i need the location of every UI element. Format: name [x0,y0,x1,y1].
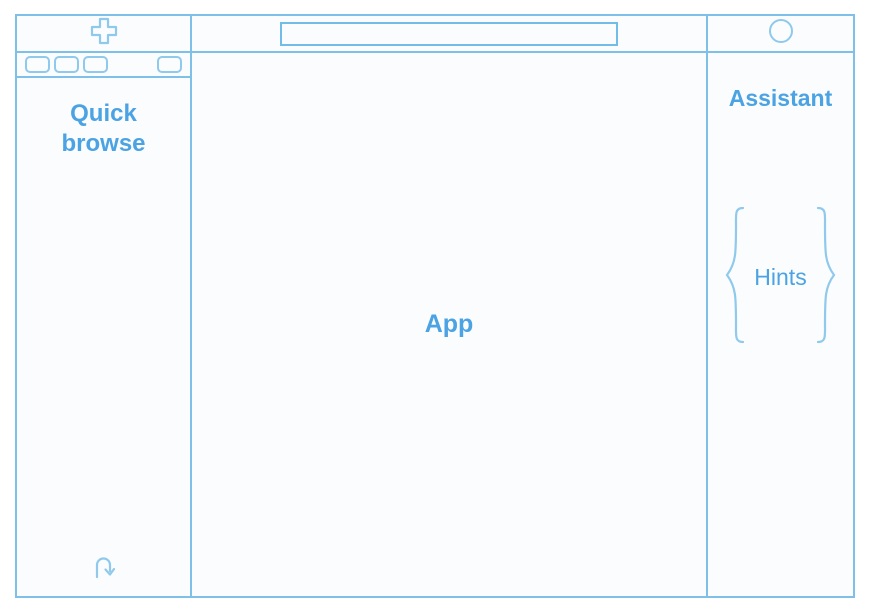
left-brace-icon [722,205,748,350]
app-label: App [425,310,474,339]
hints-label: Hints [748,264,812,291]
sidebar-tool-button-1[interactable] [25,56,50,73]
right-brace-icon [813,205,839,350]
sidebar-tool-button-3[interactable] [83,56,108,73]
plus-icon[interactable] [89,16,119,51]
assistant-title: Assistant [729,85,833,112]
sidebar-toolbar [17,53,190,78]
app-canvas[interactable]: App [192,53,708,596]
u-turn-arrow-icon[interactable] [88,551,120,588]
circle-avatar-icon[interactable] [768,18,794,49]
hints-group: Hints [708,205,853,350]
quick-browse-title: Quick browse [17,99,190,159]
top-bar-account-cell [708,16,853,51]
sidebar-content: Quick browse [17,78,190,596]
sidebar-panel: Quick browse [17,53,192,596]
top-bar [17,16,853,53]
top-bar-left-cell [17,16,192,51]
quick-browse-title-line1: Quick [27,99,180,129]
quick-browse-title-line2: browse [27,129,180,159]
assistant-panel: Assistant Hints [708,53,853,596]
top-bar-search-cell [192,16,708,51]
sidebar-tool-button-2[interactable] [54,56,79,73]
window-body: Quick browse App Assistant [17,53,853,596]
sidebar-tool-button-trailing[interactable] [157,56,182,73]
sidebar-footer [17,551,190,588]
wireframe-window: Quick browse App Assistant [15,14,855,598]
search-input[interactable] [280,22,618,46]
